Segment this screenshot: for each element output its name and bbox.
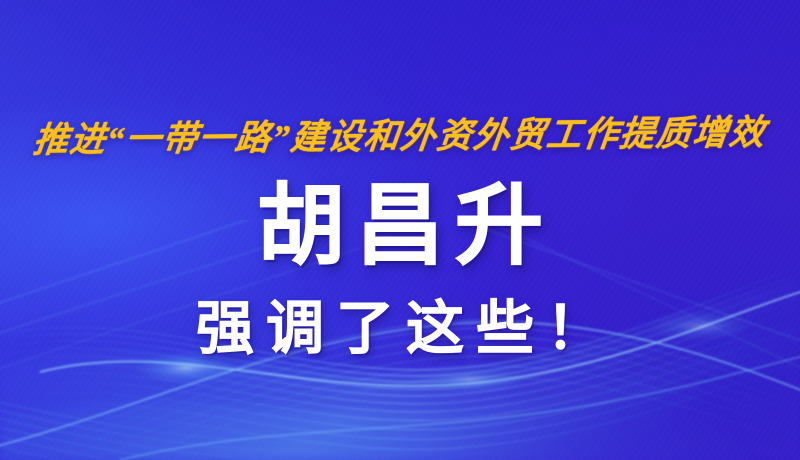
poster-banner: 推进“一带一路”建设和外资外贸工作提质增效 胡昌升 强调了这些！: [0, 0, 800, 460]
page-title-name: 胡昌升: [0, 180, 800, 272]
poster-text-content: 推进“一带一路”建设和外资外贸工作提质增效 胡昌升 强调了这些！: [0, 0, 800, 460]
subtitle-emphasis: 强调了这些！: [0, 297, 800, 361]
headline-calligraphy: 推进“一带一路”建设和外资外贸工作提质增效: [0, 104, 800, 163]
